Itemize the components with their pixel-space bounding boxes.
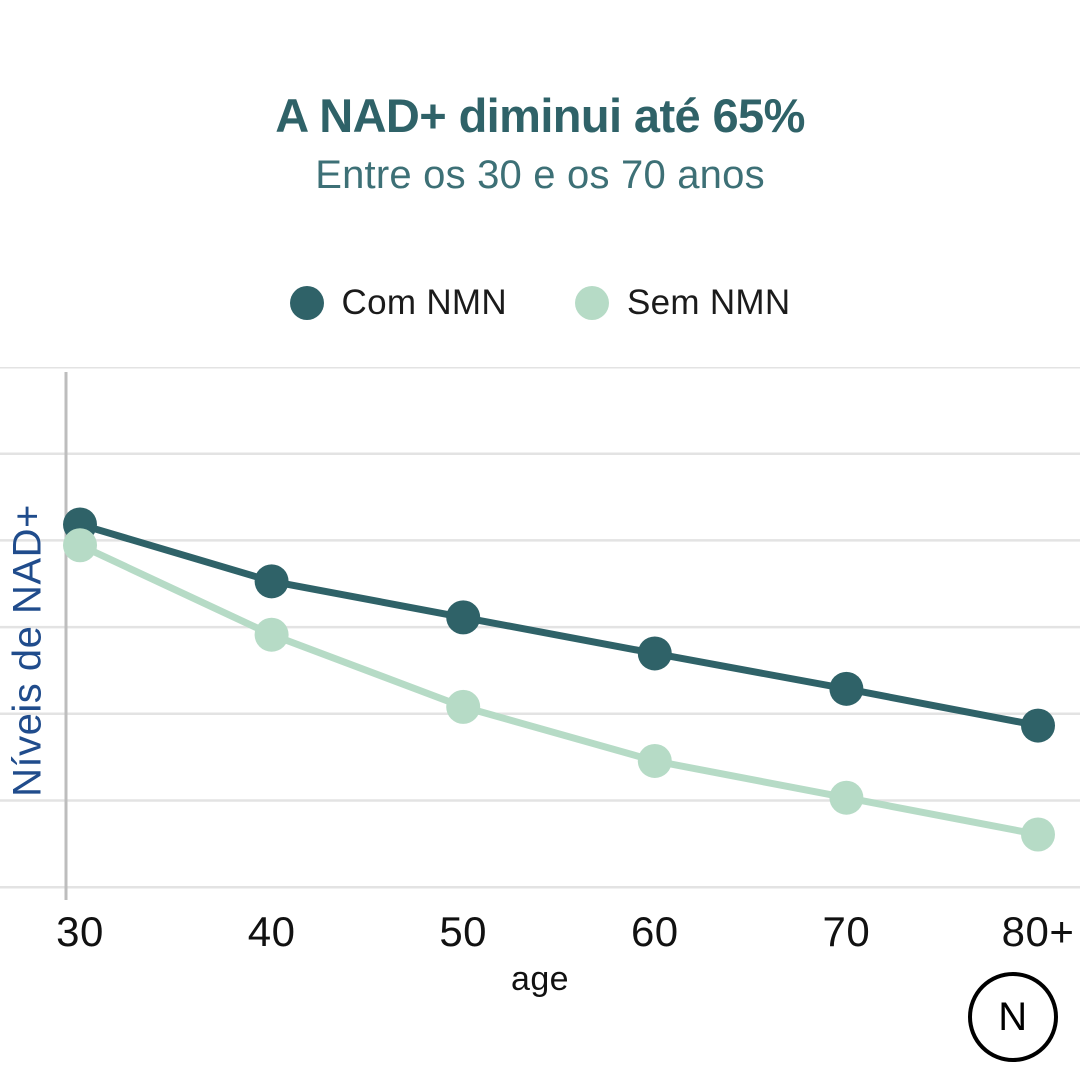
chart-series-lines xyxy=(80,524,1038,834)
line-chart-svg xyxy=(0,367,1080,900)
data-point-marker[interactable] xyxy=(255,618,289,652)
brand-logo-badge: N xyxy=(968,972,1058,1062)
data-point-marker[interactable] xyxy=(446,690,480,724)
data-point-marker[interactable] xyxy=(1021,817,1055,851)
data-point-marker[interactable] xyxy=(638,636,672,670)
series-line xyxy=(80,524,1038,725)
page-subtitle: Entre os 30 e os 70 anos xyxy=(0,141,1080,196)
page-title: A NAD+ diminui até 65% xyxy=(0,0,1080,141)
brand-letter-n-icon: N xyxy=(998,997,1027,1037)
chart-header: A NAD+ diminui até 65% Entre os 30 e os … xyxy=(0,0,1080,196)
data-point-marker[interactable] xyxy=(255,564,289,598)
x-tick-label: 60 xyxy=(631,908,679,956)
x-tick-label: 70 xyxy=(823,908,871,956)
x-axis-ticks: 304050607080+ xyxy=(0,908,1080,966)
series-line xyxy=(80,545,1038,834)
data-point-marker[interactable] xyxy=(638,744,672,778)
x-axis-label: age xyxy=(0,960,1080,999)
chart-legend: Com NMN Sem NMN xyxy=(0,283,1080,323)
legend-label-sem-nmn: Sem NMN xyxy=(627,283,791,323)
data-point-marker[interactable] xyxy=(63,528,97,562)
x-tick-label: 80+ xyxy=(1002,908,1075,956)
legend-label-com-nmn: Com NMN xyxy=(342,283,507,323)
x-tick-label: 50 xyxy=(439,908,487,956)
data-point-marker[interactable] xyxy=(829,781,863,815)
legend-item-sem-nmn[interactable]: Sem NMN xyxy=(575,283,791,323)
x-tick-label: 40 xyxy=(248,908,296,956)
legend-swatch-circle-icon xyxy=(290,286,324,320)
y-axis-label: Níveis de NAD+ xyxy=(6,411,51,891)
data-point-marker[interactable] xyxy=(829,672,863,706)
data-point-marker[interactable] xyxy=(446,600,480,634)
x-tick-label: 30 xyxy=(56,908,104,956)
chart-plot-area xyxy=(0,367,1080,900)
data-point-marker[interactable] xyxy=(1021,709,1055,743)
legend-item-com-nmn[interactable]: Com NMN xyxy=(290,283,507,323)
legend-swatch-circle-icon xyxy=(575,286,609,320)
